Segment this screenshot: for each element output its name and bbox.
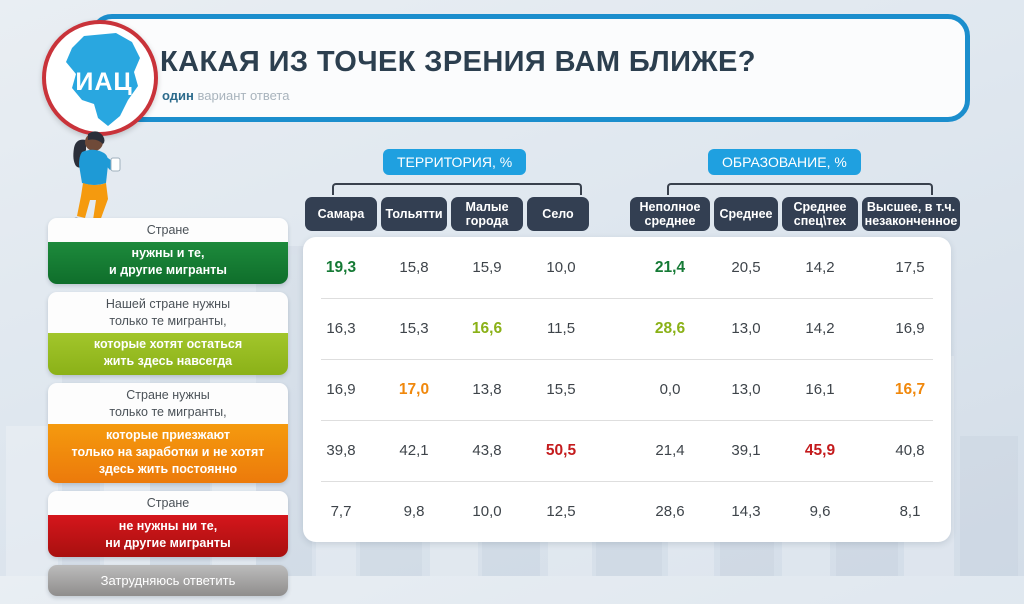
- table-cell: 10,0: [525, 237, 597, 298]
- table-cell: 45,9: [780, 420, 860, 481]
- table-cell: 13,0: [712, 298, 780, 359]
- answer-card-3-bottom: которые приезжаюттолько на заработки и н…: [48, 424, 288, 483]
- answer-card-1-top: Стране: [48, 218, 288, 242]
- table-cell: 14,2: [780, 298, 860, 359]
- answer-card-4-bottom: не нужны ни те,ни другие мигранты: [48, 515, 288, 557]
- table-cell: 16,1: [780, 359, 860, 420]
- table-row: 39,842,143,850,521,439,145,940,8: [303, 420, 951, 481]
- table-cell: 15,9: [449, 237, 525, 298]
- answer-card-3-top: Стране нужнытолько те мигранты,: [48, 383, 288, 424]
- answer-mode-text: вариант ответа: [194, 88, 290, 103]
- answer-card-4[interactable]: Стране не нужны ни те,ни другие мигранты: [48, 491, 288, 557]
- logo-badge: ИАЦ: [42, 20, 158, 136]
- answer-cards-list: Стране нужны и те,и другие мигранты Наше…: [48, 218, 288, 604]
- answer-mode-note: один вариант ответа: [162, 88, 289, 103]
- table-cell: 0,0: [628, 359, 712, 420]
- answer-card-1-bottom: нужны и те,и другие мигранты: [48, 242, 288, 284]
- answer-card-2-bottom: которые хотят остатьсяжить здесь навсегд…: [48, 333, 288, 375]
- column-header-village[interactable]: Село: [527, 197, 589, 231]
- table-cell: 10,0: [449, 481, 525, 542]
- table-cell: 42,1: [379, 420, 449, 481]
- column-header-higher[interactable]: Высшее, в т.ч. незаконченное: [862, 197, 960, 231]
- column-header-tolyatti[interactable]: Тольятти: [381, 197, 447, 231]
- table-row: 19,315,815,910,021,420,514,217,5: [303, 237, 951, 298]
- column-header-samara[interactable]: Самара: [305, 197, 377, 231]
- page-title: КАКАЯ ИЗ ТОЧЕК ЗРЕНИЯ ВАМ БЛИЖЕ?: [160, 46, 950, 79]
- table-cell: 13,8: [449, 359, 525, 420]
- column-header-incomplete-secondary[interactable]: Неполное среднее: [630, 197, 710, 231]
- table-row: 16,917,013,815,50,013,016,116,7: [303, 359, 951, 420]
- table-cell: 16,7: [860, 359, 960, 420]
- table-cell: 11,5: [525, 298, 597, 359]
- table-cell: 14,3: [712, 481, 780, 542]
- answer-card-2[interactable]: Нашей стране нужнытолько те мигранты, ко…: [48, 292, 288, 375]
- table-cell: 39,8: [303, 420, 379, 481]
- table-row: 7,79,810,012,528,614,39,68,1: [303, 481, 951, 542]
- table-cell: 15,3: [379, 298, 449, 359]
- answer-mode-count: один: [162, 88, 194, 103]
- answer-card-3[interactable]: Стране нужнытолько те мигранты, которые …: [48, 383, 288, 483]
- table-cell: 21,4: [628, 420, 712, 481]
- table-cell: 28,6: [628, 481, 712, 542]
- table-cell: 16,9: [303, 359, 379, 420]
- group-label-education: ОБРАЗОВАНИЕ, %: [708, 149, 861, 175]
- table-cell: 19,3: [303, 237, 379, 298]
- table-cell: 21,4: [628, 237, 712, 298]
- column-header-vocational[interactable]: Среднее спец\тех: [782, 197, 858, 231]
- table-cell: 50,5: [525, 420, 597, 481]
- answer-card-5[interactable]: Затрудняюсь ответить: [48, 565, 288, 596]
- table-cell: 43,8: [449, 420, 525, 481]
- table-cell: 15,8: [379, 237, 449, 298]
- table-cell: 13,0: [712, 359, 780, 420]
- table-cell: 40,8: [860, 420, 960, 481]
- table-cell: 7,7: [303, 481, 379, 542]
- column-header-secondary[interactable]: Среднее: [714, 197, 778, 231]
- table-row: 16,315,316,611,528,613,014,216,9: [303, 298, 951, 359]
- group-bracket-territory: [332, 183, 582, 195]
- group-bracket-education: [667, 183, 933, 195]
- table-cell: 28,6: [628, 298, 712, 359]
- group-label-territory: ТЕРРИТОРИЯ, %: [383, 149, 526, 175]
- logo-text: ИАЦ: [46, 68, 158, 97]
- table-cell: 8,1: [860, 481, 960, 542]
- answer-card-2-top: Нашей стране нужнытолько те мигранты,: [48, 292, 288, 333]
- table-cell: 14,2: [780, 237, 860, 298]
- table-cell: 9,6: [780, 481, 860, 542]
- table-cell: 9,8: [379, 481, 449, 542]
- table-cell: 12,5: [525, 481, 597, 542]
- table-cell: 17,5: [860, 237, 960, 298]
- table-cell: 39,1: [712, 420, 780, 481]
- table-cell: 16,3: [303, 298, 379, 359]
- table-cell: 15,5: [525, 359, 597, 420]
- table-cell: 16,6: [449, 298, 525, 359]
- table-cell: 20,5: [712, 237, 780, 298]
- column-header-small-towns[interactable]: Малые города: [451, 197, 523, 231]
- table-cell: 16,9: [860, 298, 960, 359]
- data-table: 19,315,815,910,021,420,514,217,5 16,315,…: [303, 237, 951, 542]
- answer-card-1[interactable]: Стране нужны и те,и другие мигранты: [48, 218, 288, 284]
- table-cell: 17,0: [379, 359, 449, 420]
- answer-card-4-top: Стране: [48, 491, 288, 515]
